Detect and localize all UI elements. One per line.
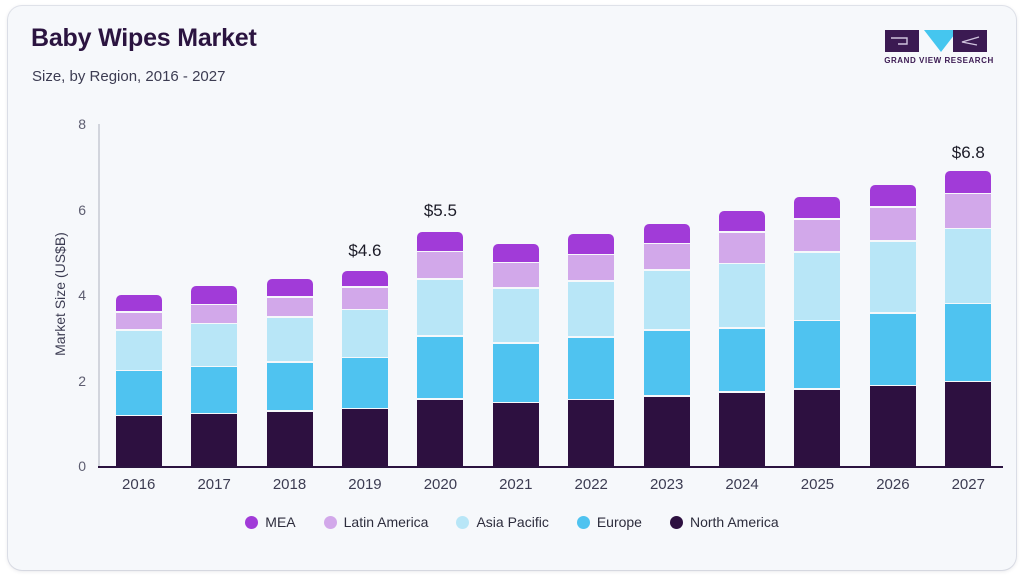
y-axis-line bbox=[98, 124, 100, 466]
bar-segment-2025-latin-america[interactable] bbox=[794, 220, 840, 252]
bar-segment-2016-mea[interactable] bbox=[116, 295, 162, 311]
x-tick-2021: 2021 bbox=[499, 476, 532, 493]
bar-segment-2017-asia-pacific[interactable] bbox=[191, 324, 237, 365]
bar-group-2022[interactable] bbox=[568, 234, 614, 466]
x-tick-2018: 2018 bbox=[273, 476, 306, 493]
x-tick-2016: 2016 bbox=[122, 476, 155, 493]
bar-segment-2021-europe[interactable] bbox=[493, 344, 539, 402]
legend-swatch-icon bbox=[324, 516, 337, 529]
bar-segment-2023-asia-pacific[interactable] bbox=[644, 271, 690, 329]
bar-segment-2023-latin-america[interactable] bbox=[644, 244, 690, 269]
legend-swatch-icon bbox=[670, 516, 683, 529]
bar-segment-2019-mea[interactable] bbox=[342, 271, 388, 286]
chart-subtitle: Size, by Region, 2016 - 2027 bbox=[32, 68, 225, 85]
bar-segment-2027-europe[interactable] bbox=[945, 304, 991, 380]
bar-segment-2025-asia-pacific[interactable] bbox=[794, 253, 840, 320]
bar-segment-2020-asia-pacific[interactable] bbox=[417, 280, 463, 335]
bar-segment-2026-north-america[interactable] bbox=[870, 386, 916, 466]
bar-segment-2019-north-america[interactable] bbox=[342, 409, 388, 466]
bar-segment-2020-europe[interactable] bbox=[417, 337, 463, 398]
bar-segment-2025-mea[interactable] bbox=[794, 197, 840, 218]
bar-segment-2027-asia-pacific[interactable] bbox=[945, 229, 991, 302]
bar-segment-2021-north-america[interactable] bbox=[493, 403, 539, 466]
bar-segment-2024-north-america[interactable] bbox=[719, 393, 765, 466]
legend-swatch-icon bbox=[245, 516, 258, 529]
chart-legend: MEALatin AmericaAsia PacificEuropeNorth … bbox=[8, 514, 1016, 530]
bar-group-2021[interactable] bbox=[493, 246, 539, 466]
legend-swatch-icon bbox=[577, 516, 590, 529]
y-tick-6: 6 bbox=[46, 202, 86, 218]
legend-item-europe[interactable]: Europe bbox=[577, 514, 642, 530]
bar-total-label-2019: $4.6 bbox=[348, 241, 381, 261]
bar-segment-2018-mea[interactable] bbox=[267, 279, 313, 296]
bar-total-label-2020: $5.5 bbox=[424, 201, 457, 221]
page-title: Baby Wipes Market bbox=[31, 24, 257, 53]
bar-group-2023[interactable] bbox=[644, 225, 690, 466]
bar-segment-2017-europe[interactable] bbox=[191, 367, 237, 413]
bar-segment-2019-asia-pacific[interactable] bbox=[342, 310, 388, 356]
legend-swatch-icon bbox=[456, 516, 469, 529]
y-tick-8: 8 bbox=[46, 116, 86, 132]
x-tick-2017: 2017 bbox=[197, 476, 230, 493]
y-tick-4: 4 bbox=[46, 287, 86, 303]
legend-label: Latin America bbox=[344, 514, 429, 530]
legend-label: MEA bbox=[265, 514, 295, 530]
bar-group-2026[interactable] bbox=[870, 186, 916, 466]
bar-segment-2019-latin-america[interactable] bbox=[342, 288, 388, 309]
bar-segment-2022-latin-america[interactable] bbox=[568, 255, 614, 280]
bar-segment-2023-mea[interactable] bbox=[644, 224, 690, 243]
legend-label: Europe bbox=[597, 514, 642, 530]
bar-segment-2017-north-america[interactable] bbox=[191, 414, 237, 466]
x-tick-2027: 2027 bbox=[952, 476, 985, 493]
y-tick-0: 0 bbox=[46, 458, 86, 474]
bar-chart-plot-area: Market Size (US$B) 02468 $4.6$5.5$6.8 20… bbox=[98, 124, 1003, 466]
bar-segment-2025-europe[interactable] bbox=[794, 321, 840, 388]
grand-view-research-logo: GRAND VIEW RESEARCH bbox=[878, 30, 1000, 70]
bar-segment-2027-north-america[interactable] bbox=[945, 382, 991, 466]
x-tick-2023: 2023 bbox=[650, 476, 683, 493]
bar-segment-2016-north-america[interactable] bbox=[116, 416, 162, 466]
logo-g-mark-icon bbox=[885, 30, 919, 52]
bar-segment-2026-latin-america[interactable] bbox=[870, 208, 916, 241]
bar-segment-2021-asia-pacific[interactable] bbox=[493, 289, 539, 342]
logo-left-square-icon bbox=[885, 30, 919, 52]
bar-segment-2018-europe[interactable] bbox=[267, 363, 313, 411]
bar-group-2018[interactable] bbox=[267, 279, 313, 466]
bar-group-2025[interactable] bbox=[794, 200, 840, 466]
x-tick-2019: 2019 bbox=[348, 476, 381, 493]
bar-segment-2024-mea[interactable] bbox=[719, 211, 765, 232]
bar-segment-2026-europe[interactable] bbox=[870, 314, 916, 385]
bar-segment-2022-mea[interactable] bbox=[568, 234, 614, 253]
bar-segment-2027-latin-america[interactable] bbox=[945, 194, 991, 228]
bar-segment-2017-mea[interactable] bbox=[191, 286, 237, 303]
bar-segment-2023-north-america[interactable] bbox=[644, 397, 690, 466]
bar-segment-2020-latin-america[interactable] bbox=[417, 252, 463, 278]
legend-label: North America bbox=[690, 514, 779, 530]
bar-segment-2024-latin-america[interactable] bbox=[719, 233, 765, 263]
x-tick-2020: 2020 bbox=[424, 476, 457, 493]
bar-segment-2024-europe[interactable] bbox=[719, 329, 765, 392]
bar-segment-2026-asia-pacific[interactable] bbox=[870, 242, 916, 312]
bar-segment-2020-mea[interactable] bbox=[417, 232, 463, 251]
bar-segment-2022-europe[interactable] bbox=[568, 338, 614, 399]
legend-item-north-america[interactable]: North America bbox=[670, 514, 779, 530]
bar-segment-2024-asia-pacific[interactable] bbox=[719, 264, 765, 327]
x-tick-2024: 2024 bbox=[725, 476, 758, 493]
bar-segment-2027-mea[interactable] bbox=[945, 171, 991, 193]
bar-segment-2022-asia-pacific[interactable] bbox=[568, 282, 614, 337]
x-tick-2025: 2025 bbox=[801, 476, 834, 493]
bar-segment-2021-mea[interactable] bbox=[493, 244, 539, 262]
logo-wordmark: GRAND VIEW RESEARCH bbox=[878, 56, 1000, 65]
bar-group-2017[interactable] bbox=[191, 286, 237, 466]
logo-arrow-mark-icon bbox=[953, 30, 987, 52]
bar-segment-2018-latin-america[interactable] bbox=[267, 298, 313, 317]
y-tick-2: 2 bbox=[46, 373, 86, 389]
bar-group-2027[interactable]: $6.8 bbox=[945, 173, 991, 466]
x-tick-2026: 2026 bbox=[876, 476, 909, 493]
bar-total-label-2027: $6.8 bbox=[952, 143, 985, 163]
bar-group-2020[interactable]: $5.5 bbox=[417, 231, 463, 466]
bar-segment-2016-europe[interactable] bbox=[116, 371, 162, 414]
bar-segment-2016-latin-america[interactable] bbox=[116, 313, 162, 329]
bar-segment-2018-asia-pacific[interactable] bbox=[267, 318, 313, 361]
bar-group-2016[interactable] bbox=[116, 295, 162, 466]
bar-group-2019[interactable]: $4.6 bbox=[342, 271, 388, 466]
legend-item-mea[interactable]: MEA bbox=[245, 514, 295, 530]
bar-segment-2016-asia-pacific[interactable] bbox=[116, 331, 162, 370]
bar-segment-2026-mea[interactable] bbox=[870, 185, 916, 206]
bar-segment-2022-north-america[interactable] bbox=[568, 400, 614, 466]
bar-segment-2025-north-america[interactable] bbox=[794, 390, 840, 466]
legend-item-asia-pacific[interactable]: Asia Pacific bbox=[456, 514, 548, 530]
x-tick-2022: 2022 bbox=[575, 476, 608, 493]
x-axis-line bbox=[98, 466, 1003, 468]
legend-item-latin-america[interactable]: Latin America bbox=[324, 514, 429, 530]
bar-group-2024[interactable] bbox=[719, 212, 765, 466]
legend-label: Asia Pacific bbox=[476, 514, 548, 530]
bar-segment-2019-europe[interactable] bbox=[342, 358, 388, 408]
bar-segment-2018-north-america[interactable] bbox=[267, 412, 313, 466]
chart-card: Baby Wipes Market Size, by Region, 2016 … bbox=[8, 6, 1016, 570]
bar-segment-2023-europe[interactable] bbox=[644, 331, 690, 396]
logo-right-square-icon bbox=[953, 30, 987, 52]
bar-segment-2021-latin-america[interactable] bbox=[493, 263, 539, 287]
bar-segment-2020-north-america[interactable] bbox=[417, 400, 463, 466]
bar-segment-2017-latin-america[interactable] bbox=[191, 305, 237, 323]
